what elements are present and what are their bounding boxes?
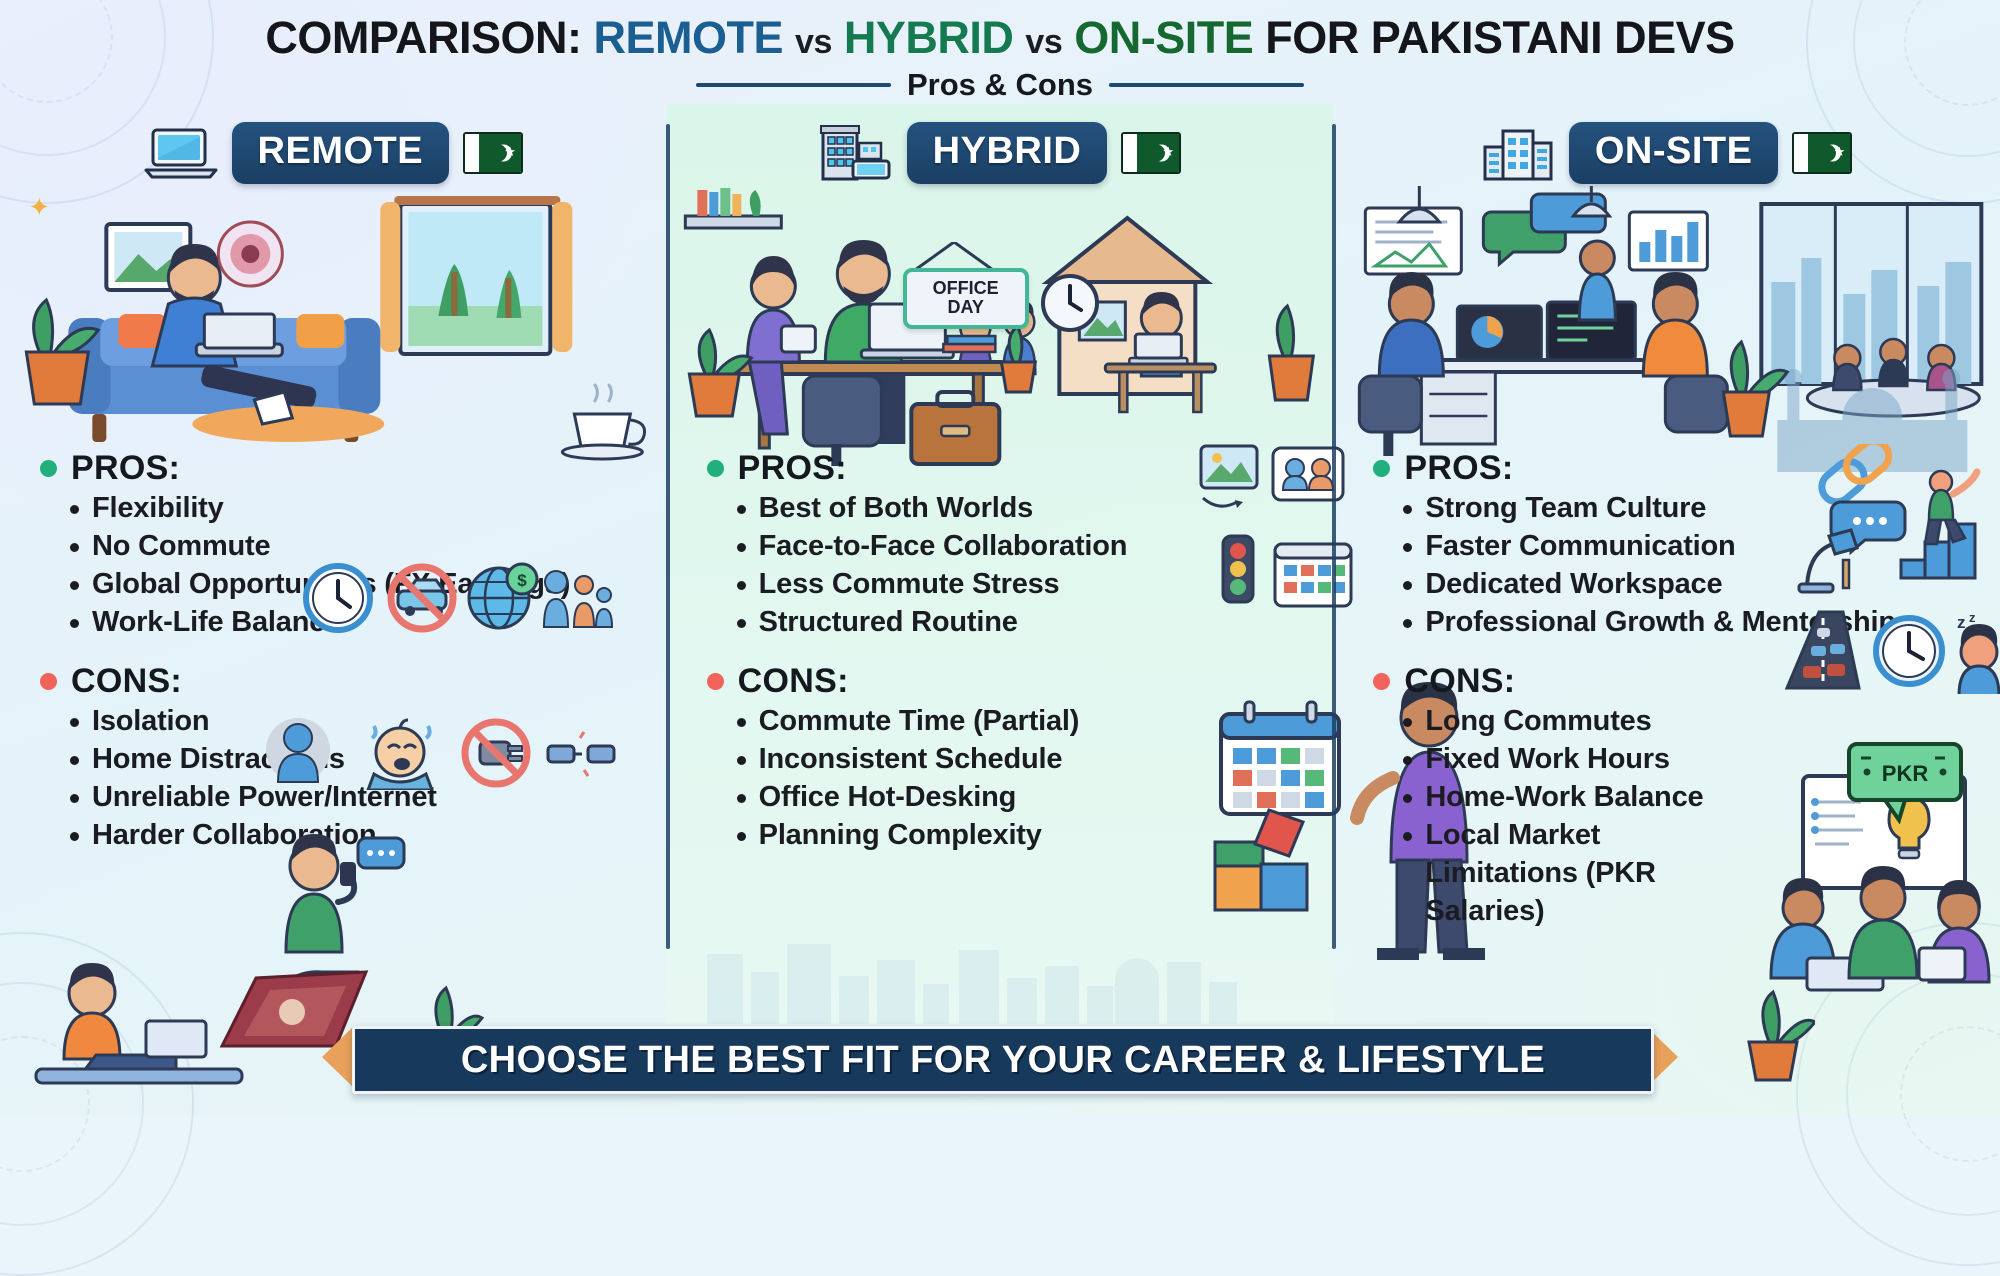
office-day-sign-hanger xyxy=(879,242,881,244)
footer-banner: CHOOSE THE BEST FIT FOR YOUR CAREER & LI… xyxy=(352,1026,1654,1094)
cons-bullet-icon xyxy=(707,673,724,690)
column-title-remote: REMOTE xyxy=(232,122,450,184)
page-title: COMPARISON: REMOTE vs HYBRID vs ON-SITE … xyxy=(0,14,2000,61)
column-header-hybrid: HYBRID ★ xyxy=(667,122,1334,184)
banner-ribbon-left xyxy=(322,1026,354,1088)
title-onsite: ON-SITE xyxy=(1074,12,1253,63)
pkr-money-bubble: PKR xyxy=(1845,740,1971,829)
subtitle-row: Pros & Cons xyxy=(0,67,2000,103)
svg-text:$: $ xyxy=(517,571,527,590)
pros-bullet-icon xyxy=(707,460,724,477)
pakistan-flag-icon: ★ xyxy=(463,132,523,174)
column-divider xyxy=(666,124,670,949)
illustration-hybrid-office-home xyxy=(675,186,1326,486)
office-day-line-2: DAY xyxy=(919,298,1013,317)
pakistan-flag-icon: ★ xyxy=(1792,132,1852,174)
column-remote: REMOTE ★ xyxy=(0,104,667,1024)
illustration-remote-home: ✦ xyxy=(8,186,659,486)
infographic-canvas: COMPARISON: REMOTE vs HYBRID vs ON-SITE … xyxy=(0,0,2000,1116)
footer-banner-text: CHOOSE THE BEST FIT FOR YOUR CAREER & LI… xyxy=(461,1039,1545,1082)
cons-bullet-icon xyxy=(40,673,57,690)
title-part-2: FOR PAKISTANI DEVS xyxy=(1265,12,1734,63)
title-remote: REMOTE xyxy=(594,12,784,63)
illustration-onsite-office xyxy=(1341,186,1992,486)
title-vs-1: vs xyxy=(795,23,832,61)
cons-icons-onsite: z z xyxy=(1781,608,2000,699)
subtitle-rule-right xyxy=(1109,83,1304,87)
list-item: Long Commutes xyxy=(1399,703,1974,741)
svg-text:z: z xyxy=(1957,613,1966,632)
svg-text:✦: ✦ xyxy=(28,192,50,222)
title-vs-2: vs xyxy=(1025,23,1062,61)
column-title-onsite: ON-SITE xyxy=(1569,122,1779,184)
title-part-1: COMPARISON: xyxy=(265,12,581,63)
cons-bullet-icon xyxy=(1373,673,1390,690)
pakistan-flag-icon: ★ xyxy=(1121,132,1181,174)
office-day-sign: OFFICE DAY xyxy=(903,268,1029,329)
office-building-laptop-icon xyxy=(819,125,893,181)
pros-icons-remote: $ xyxy=(300,559,620,642)
cons-icons-remote xyxy=(258,716,618,795)
pros-label: PROS: xyxy=(71,449,180,488)
column-header-onsite: ON-SITE ★ xyxy=(1333,122,2000,184)
pros-icons-hybrid xyxy=(1199,442,1351,527)
list-item: Local Market Limitations (PKR Salaries) xyxy=(1399,817,1755,931)
pros-bullet-icon xyxy=(40,460,57,477)
office-day-line-1: OFFICE xyxy=(919,279,1013,298)
list-item: Flexibility xyxy=(66,490,641,528)
cons-label: CONS: xyxy=(738,662,849,701)
column-divider xyxy=(1332,124,1336,949)
cons-label: CONS: xyxy=(1404,662,1515,701)
title-block: COMPARISON: REMOTE vs HYBRID vs ON-SITE … xyxy=(0,14,2000,103)
pkr-label: PKR xyxy=(1882,761,1929,786)
puzzle-pieces-icon xyxy=(1207,804,1337,919)
comparison-columns: REMOTE ★ xyxy=(0,104,2000,1024)
column-onsite: ON-SITE ★ xyxy=(1333,104,2000,1024)
pros-label: PROS: xyxy=(738,449,847,488)
title-hybrid: HYBRID xyxy=(844,12,1014,63)
column-header-remote: REMOTE ★ xyxy=(0,122,667,184)
pros-label: PROS: xyxy=(1404,449,1513,488)
pros-header-remote: PROS: xyxy=(40,449,641,488)
office-tower-icon xyxy=(1481,125,1555,181)
column-title-hybrid: HYBRID xyxy=(907,122,1108,184)
potted-plant-icon xyxy=(1729,988,1815,1089)
person-sitting-with-laptop-icon xyxy=(30,959,250,1094)
page-subtitle: Pros & Cons xyxy=(907,67,1093,103)
cons-header-hybrid: CONS: xyxy=(707,662,1308,701)
pros-bullet-icon xyxy=(1373,460,1390,477)
svg-text:z: z xyxy=(1969,610,1976,625)
subtitle-rule-left xyxy=(696,83,891,87)
laptop-icon xyxy=(144,125,218,181)
city-skyline-silhouette xyxy=(667,914,1333,1024)
cons-header-remote: CONS: xyxy=(40,662,641,701)
column-hybrid: HYBRID ★ xyxy=(667,104,1334,1024)
pros-icons-onsite xyxy=(1797,444,1987,599)
cons-label: CONS: xyxy=(71,662,182,701)
wall-clock-icon xyxy=(1039,272,1101,339)
